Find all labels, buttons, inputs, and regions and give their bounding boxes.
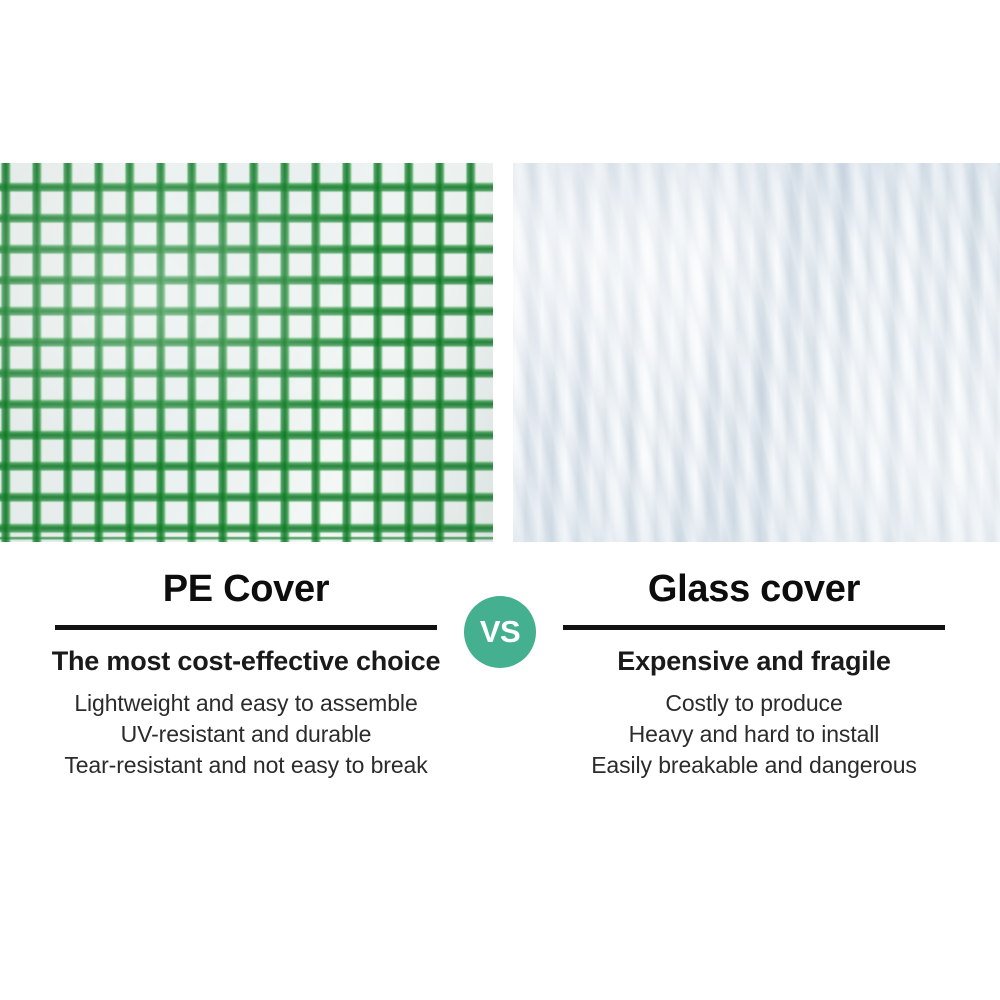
pe-mesh-texture [0, 163, 493, 542]
glass-cover-divider [563, 625, 945, 630]
pe-mesh-image [0, 163, 493, 542]
pe-cover-divider [55, 625, 437, 630]
glass-cover-image [513, 163, 1000, 542]
list-item: Tear-resistant and not easy to break [10, 750, 482, 781]
pe-cover-benefit-list: Lightweight and easy to assemble UV-resi… [10, 688, 482, 781]
pe-cover-column: PE Cover The most cost-effective choice … [10, 566, 482, 781]
pe-cover-subtitle: The most cost-effective choice [10, 644, 482, 678]
list-item: Lightweight and easy to assemble [10, 688, 482, 719]
versus-badge-label: VS [480, 616, 520, 647]
glass-cover-subtitle: Expensive and fragile [518, 644, 990, 678]
list-item: Heavy and hard to install [518, 719, 990, 750]
glass-cover-column: Glass cover Expensive and fragile Costly… [518, 566, 990, 781]
versus-badge: VS [464, 596, 536, 668]
list-item: UV-resistant and durable [10, 719, 482, 750]
list-item: Easily breakable and dangerous [518, 750, 990, 781]
list-item: Costly to produce [518, 688, 990, 719]
glass-cover-drawback-list: Costly to produce Heavy and hard to inst… [518, 688, 990, 781]
glass-cover-texture [513, 163, 1000, 542]
comparison-infographic: PE Cover The most cost-effective choice … [0, 0, 1000, 1000]
glass-cover-title: Glass cover [518, 566, 990, 612]
pe-cover-title: PE Cover [10, 566, 482, 612]
